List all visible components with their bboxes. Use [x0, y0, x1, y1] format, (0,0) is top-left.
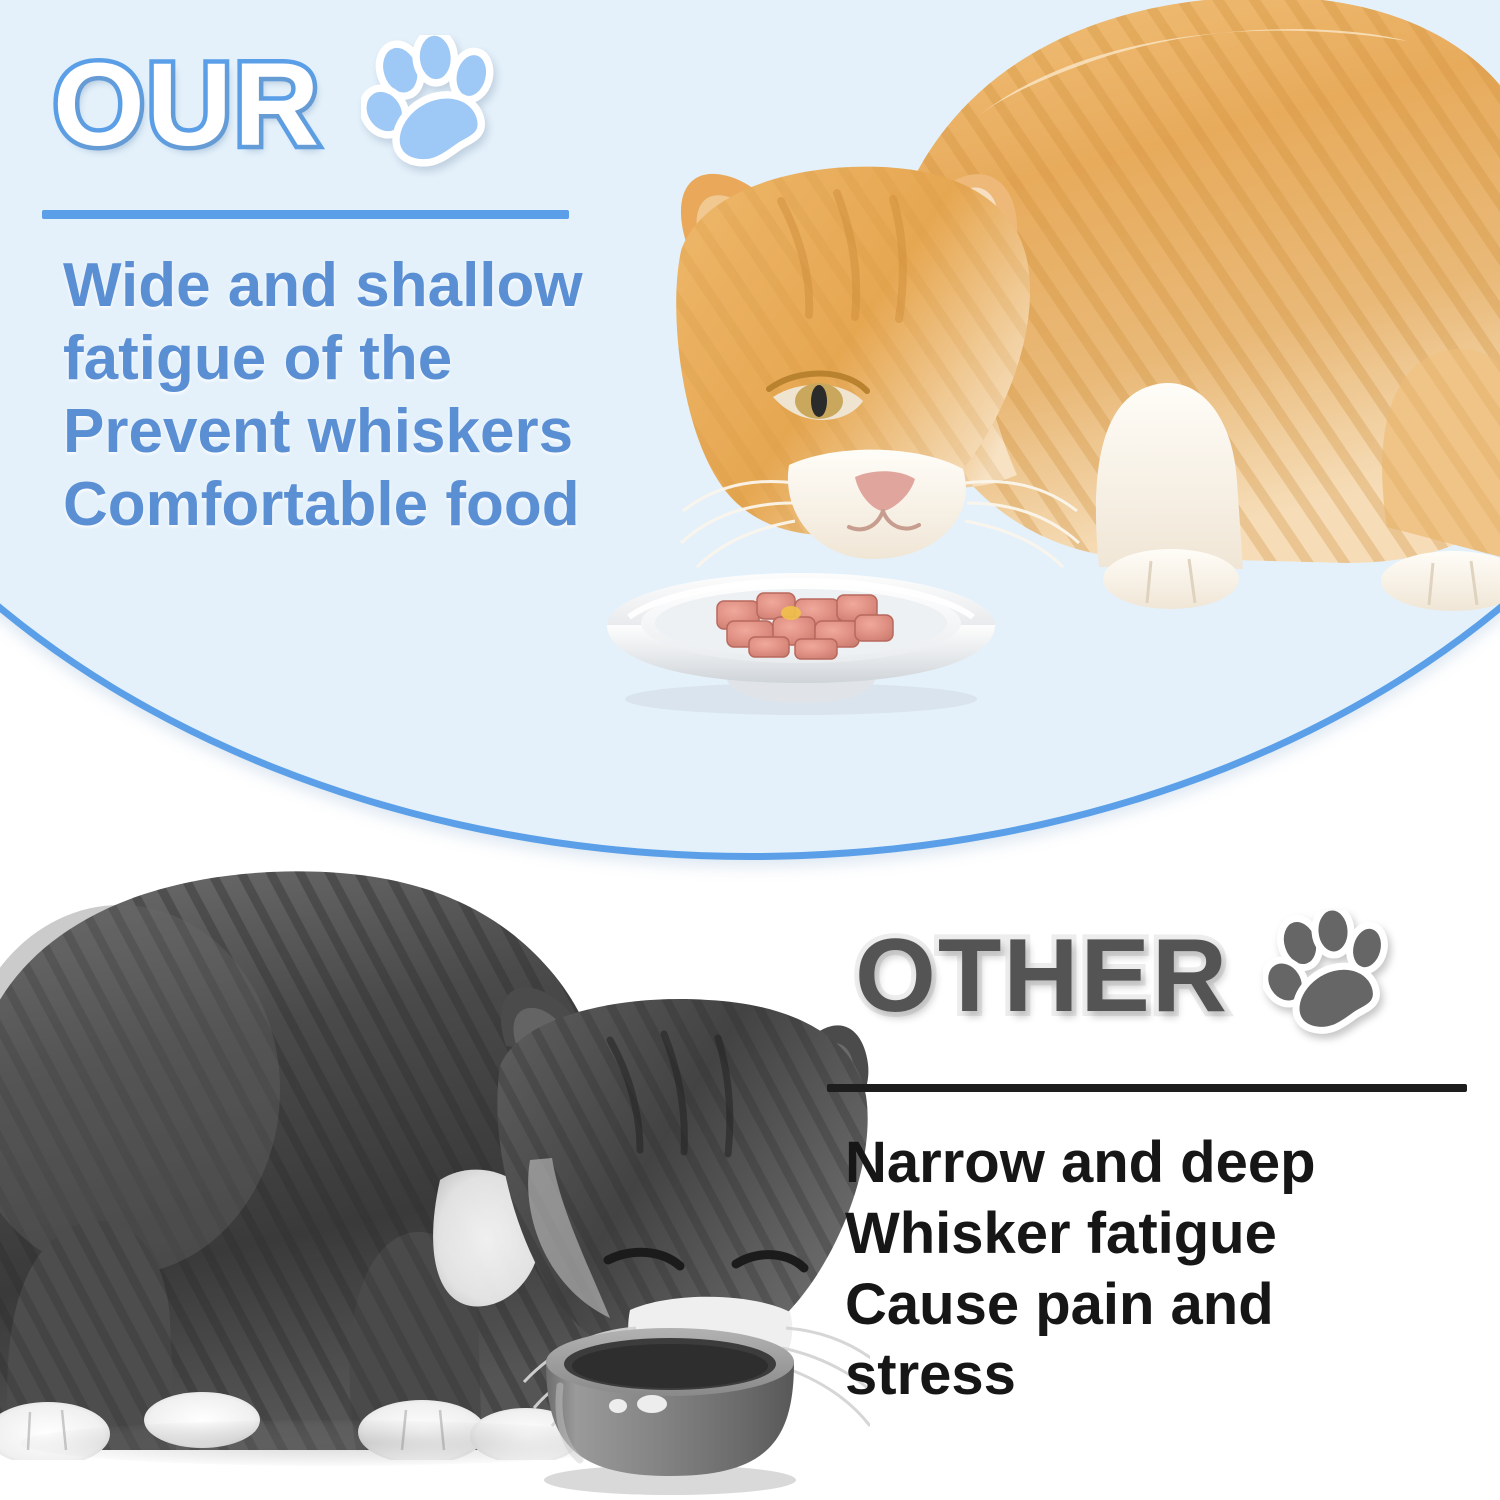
other-divider-rule	[827, 1084, 1467, 1092]
infographic-root: OTHER Narrow and deep Whisker fatigue Ca…	[0, 0, 1500, 1500]
our-divider-rule	[42, 210, 569, 219]
narrow-deep-bowl	[520, 1320, 820, 1495]
other-heading: OTHER	[855, 924, 1229, 1028]
our-heading: OUR	[53, 46, 321, 164]
our-body-text: Wide and shallow fatigue of the Prevent …	[63, 249, 663, 542]
other-panel: OTHER Narrow and deep Whisker fatigue Ca…	[0, 760, 1500, 1500]
wide-shallow-saucer	[599, 567, 1003, 717]
other-heading-row: OTHER	[855, 910, 1395, 1041]
our-heading-row: OUR	[53, 35, 501, 174]
our-panel: OUR Wide and shallow fa	[0, 0, 1500, 860]
other-body-text: Narrow and deep Whisker fatigue Cause pa…	[845, 1128, 1465, 1411]
paw-print-icon	[1263, 910, 1395, 1041]
paw-print-icon	[361, 35, 501, 174]
